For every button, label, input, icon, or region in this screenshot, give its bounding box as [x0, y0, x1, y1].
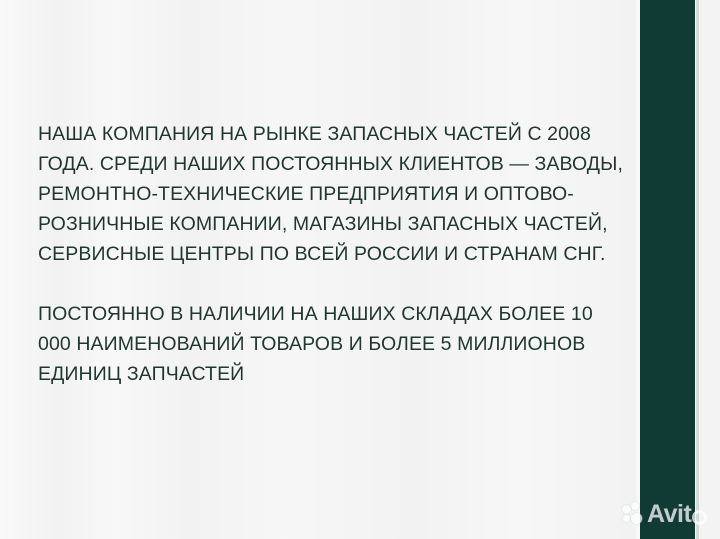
paragraph-stock-info: ПОСТОЯННО В НАЛИЧИИ НА НАШИХ СКЛАДАХ БОЛ…: [38, 299, 623, 389]
decorative-green-band: [640, 0, 695, 539]
paragraph-company-intro: НАША КОМПАНИЯ НА РЫНКЕ ЗАПАСНЫХ ЧАСТЕЙ С…: [38, 119, 623, 269]
decorative-right-margin: [699, 0, 720, 539]
slide-canvas: НАША КОМПАНИЯ НА РЫНКЕ ЗАПАСНЫХ ЧАСТЕЙ С…: [0, 0, 720, 539]
slide-text-block: НАША КОМПАНИЯ НА РЫНКЕ ЗАПАСНЫХ ЧАСТЕЙ С…: [38, 119, 623, 389]
